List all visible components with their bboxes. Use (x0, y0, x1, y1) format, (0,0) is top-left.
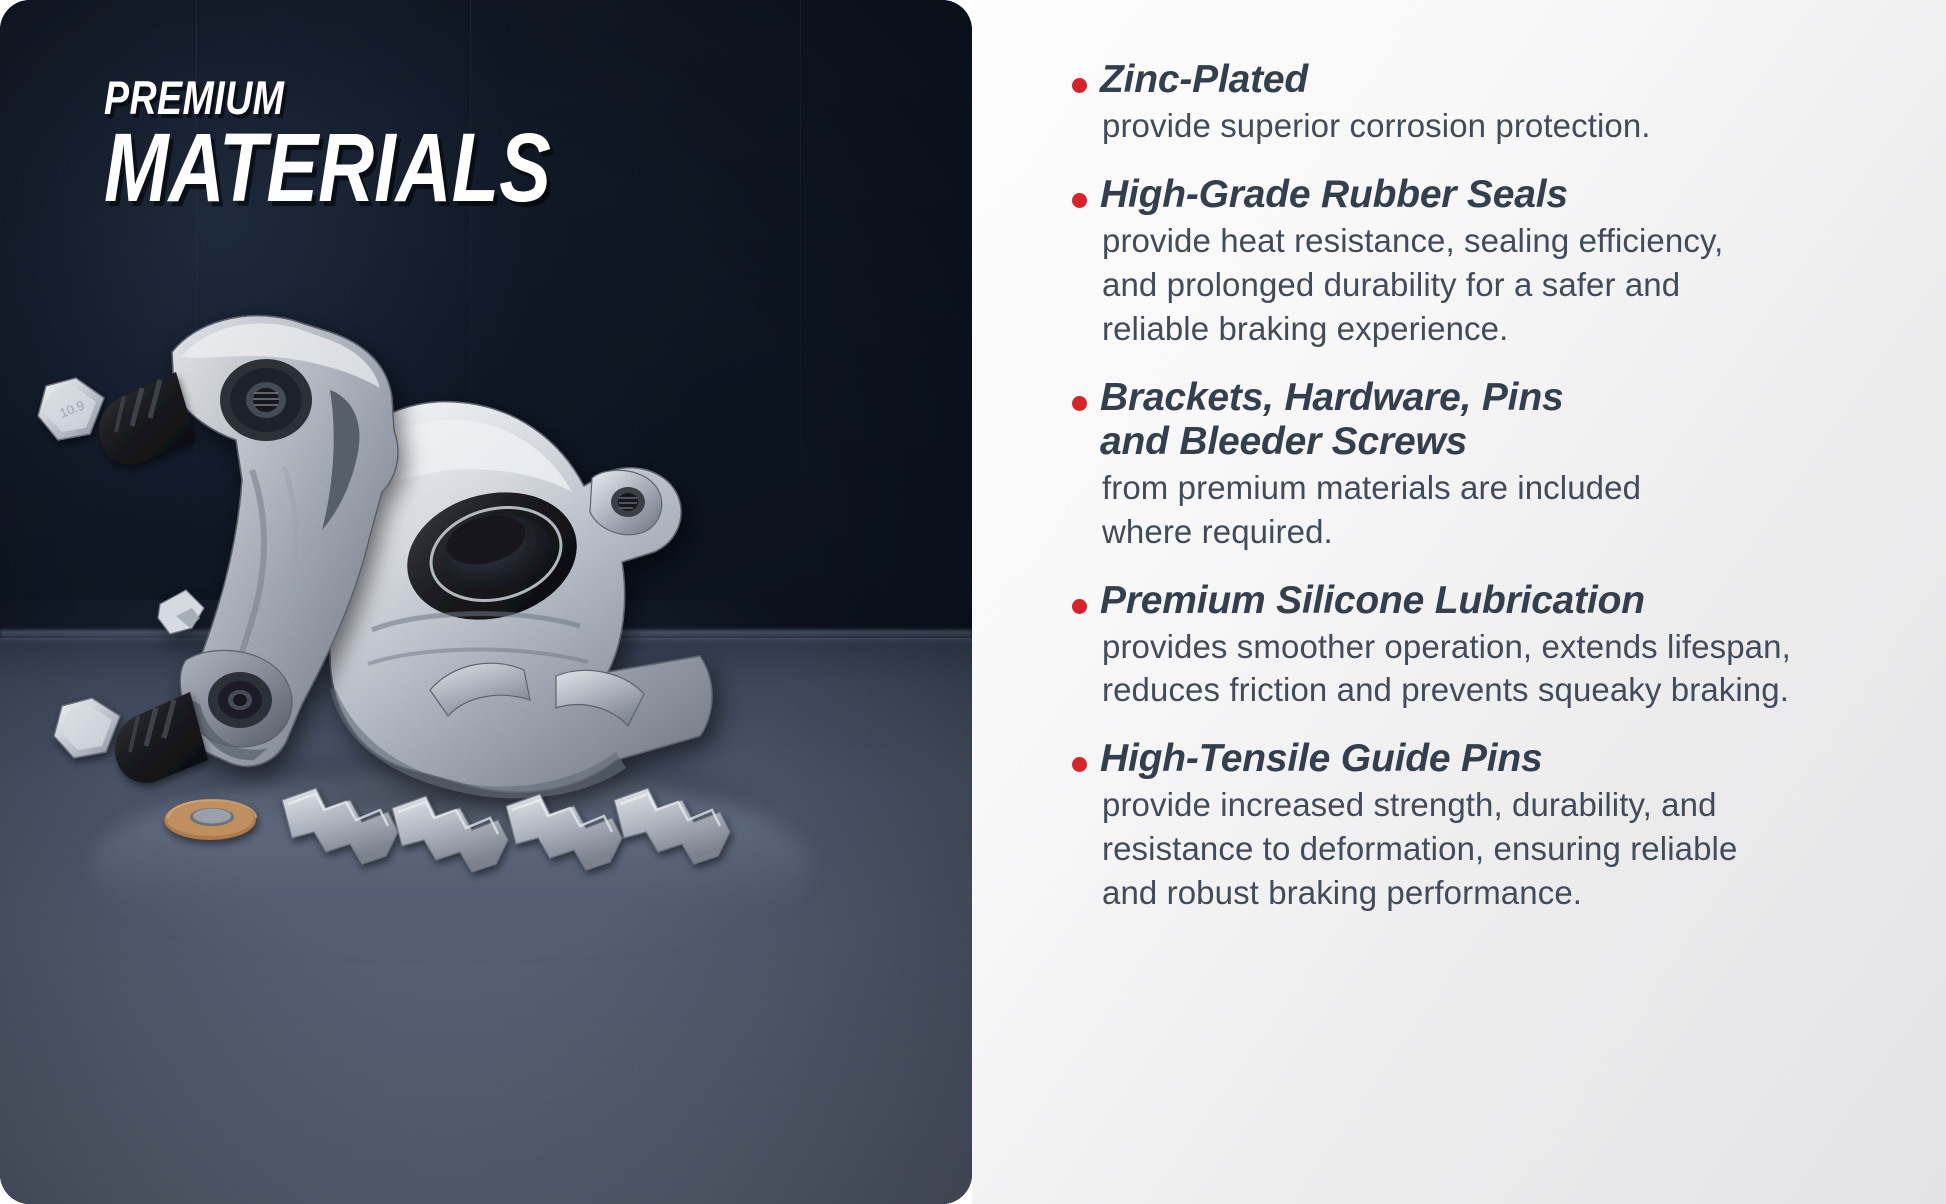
feature-body-line: provides smoother operation, extends lif… (1102, 625, 1876, 669)
title-line-materials: MATERIALS (104, 123, 551, 212)
feature-item: High-Grade Rubber Seals provide heat res… (1070, 173, 1876, 351)
hardware-clip (614, 788, 730, 864)
feature-body: from premium materials are included wher… (1070, 466, 1876, 554)
feature-body-line: where required. (1102, 510, 1876, 554)
feature-body-line: provide superior corrosion protection. (1102, 104, 1876, 148)
bullet-icon (1072, 193, 1087, 208)
hardware-clip (506, 794, 622, 870)
feature-heading: Brackets, Hardware, Pins and Bleeder Scr… (1070, 376, 1876, 464)
feature-item: Brackets, Hardware, Pins and Bleeder Scr… (1070, 376, 1876, 554)
feature-body-line: provide heat resistance, sealing efficie… (1102, 219, 1876, 263)
hardware-clip (282, 788, 398, 864)
guide-pin-with-rubber-boot-lower (54, 692, 208, 783)
bullet-icon (1072, 78, 1087, 93)
feature-heading: High-Tensile Guide Pins (1070, 737, 1876, 781)
feature-item: High-Tensile Guide Pins provide increase… (1070, 737, 1876, 915)
feature-body-line: and prolonged durability for a safer and (1102, 263, 1876, 307)
feature-body-line: and robust braking performance. (1102, 871, 1876, 915)
shim-washer (164, 800, 256, 840)
feature-body: provide superior corrosion protection. (1070, 104, 1876, 148)
feature-heading-text: Zinc-Plated (1100, 58, 1308, 101)
feature-body: provide heat resistance, sealing efficie… (1070, 219, 1876, 351)
feature-body-line: reduces friction and prevents squeaky br… (1102, 668, 1876, 712)
feature-body-line: provide increased strength, durability, … (1102, 783, 1876, 827)
features-panel: Zinc-Plated provide superior corrosion p… (972, 0, 1946, 1204)
bullet-icon (1072, 396, 1087, 411)
bullet-icon (1072, 599, 1087, 614)
guide-pin-bolt-head-lower (54, 698, 120, 758)
feature-heading: Premium Silicone Lubrication (1070, 579, 1876, 623)
bullet-icon (1072, 757, 1087, 772)
feature-heading-text: Premium Silicone Lubrication (1100, 579, 1645, 622)
feature-heading-text: High-Grade Rubber Seals (1100, 173, 1568, 216)
guide-pin-bolt-head-upper: 10.9 (38, 378, 104, 440)
feature-heading: High-Grade Rubber Seals (1070, 173, 1876, 217)
feature-heading-text: High-Tensile Guide Pins (1100, 737, 1543, 780)
feature-heading-text: Brackets, Hardware, Pins (1100, 376, 1563, 419)
bracket-mount-bore-upper (220, 359, 312, 441)
hardware-clip (392, 796, 508, 872)
feature-body-line: from premium materials are included (1102, 466, 1876, 510)
feature-heading: Zinc-Plated (1070, 58, 1876, 102)
feature-body-line: reliable braking experience. (1102, 307, 1876, 351)
feature-body: provides smoother operation, extends lif… (1070, 625, 1876, 713)
guide-pin-with-rubber-boot-upper: 10.9 (38, 372, 196, 465)
feature-body-line: resistance to deformation, ensuring reli… (1102, 827, 1876, 871)
feature-item: Premium Silicone Lubrication provides sm… (1070, 579, 1876, 713)
page-title: PREMIUM MATERIALS (104, 76, 663, 212)
feature-heading-text-line2: and Bleeder Screws (1100, 420, 1876, 464)
abutment-hardware-clips (282, 788, 730, 872)
infographic-canvas: PREMIUM MATERIALS (0, 0, 1946, 1204)
feature-body: provide increased strength, durability, … (1070, 783, 1876, 915)
product-image-panel: PREMIUM MATERIALS (0, 0, 972, 1204)
feature-item: Zinc-Plated provide superior corrosion p… (1070, 58, 1876, 148)
